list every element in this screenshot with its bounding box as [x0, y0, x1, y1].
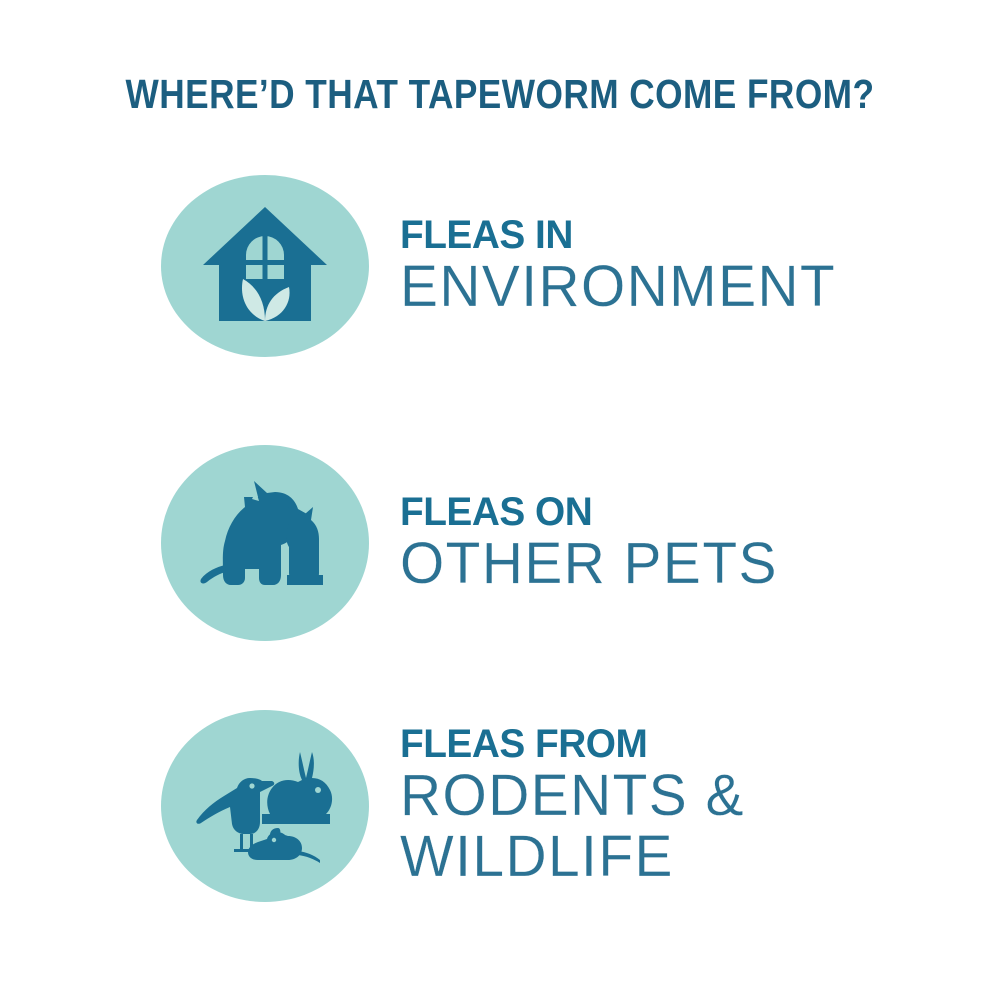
label-group-rodents-wildlife: FLEAS FROM RODENTS & WILDLIFE [400, 710, 752, 902]
row-bold-label: FLEAS IN [400, 215, 832, 256]
row-light-label: RODENTS & [400, 765, 745, 826]
house-with-leaves-icon [199, 205, 331, 327]
info-row: FLEAS FROM RODENTS & WILDLIFE [0, 710, 1000, 902]
row-bold-label: FLEAS FROM [400, 724, 741, 765]
infographic-root: WHERE’D THAT TAPEWORM COME FROM? FLEAS I… [0, 0, 1000, 1000]
info-row: FLEAS IN ENVIRONMENT [0, 175, 1000, 357]
page-title: WHERE’D THAT TAPEWORM COME FROM? [70, 74, 930, 115]
badge-circle-other-pets [161, 445, 369, 641]
label-group-other-pets: FLEAS ON OTHER PETS [400, 445, 786, 641]
dog-and-cat-icon [195, 479, 335, 607]
badge-circle-environment [161, 175, 369, 357]
row-bold-label: FLEAS ON [400, 492, 774, 533]
badge-circle-rodents-wildlife [161, 710, 369, 902]
label-group-environment: FLEAS IN ENVIRONMENT [400, 175, 845, 357]
info-row: FLEAS ON OTHER PETS [0, 445, 1000, 641]
row-light-label: ENVIRONMENT [400, 256, 836, 317]
bird-rabbit-mouse-icon [194, 748, 336, 864]
row-light-label-second: WILDLIFE [400, 826, 745, 887]
row-light-label: OTHER PETS [400, 533, 778, 594]
